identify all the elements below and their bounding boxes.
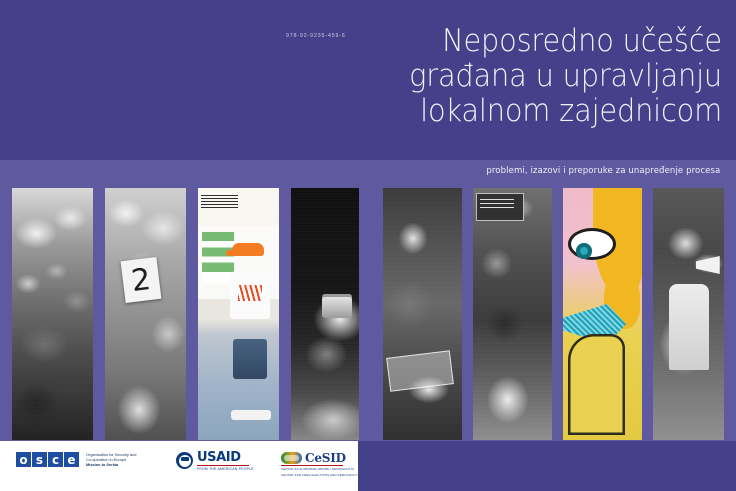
cesid-descriptor-line-1: CENTAR ZA SLOBODNE IZBORE I DEMOKRATIJU: [281, 467, 358, 471]
osce-letter-e: e: [64, 452, 79, 467]
photo-hand-raising-number-two-card: [105, 188, 186, 440]
cesid-name: CeSID: [305, 452, 346, 464]
mural-hand: [568, 334, 625, 435]
usaid-wordmark: USAID FROM THE AMERICAN PEOPLE: [197, 451, 254, 472]
osce-letter-c: c: [48, 452, 63, 467]
page-title: Neposredno učešće građana u upravljanju …: [342, 24, 722, 129]
sneakers: [231, 410, 271, 420]
osce-logo: o s c e Organisation for Security and Co…: [16, 452, 136, 467]
usaid-logo: USAID FROM THE AMERICAN PEOPLE: [176, 451, 254, 472]
title-line-1: Neposredno učešće: [369, 24, 722, 59]
osce-letter-s-glyph: s: [36, 454, 43, 466]
osce-descriptor-line-3: Mission to Serbia: [86, 462, 136, 467]
subtitle-text: problemi, izazovi i preporuke za unapređ…: [486, 166, 720, 176]
photo-crowd-raising-voting-cards: [12, 188, 93, 440]
osce-letter-c-glyph: c: [52, 454, 59, 466]
osce-descriptor: Organisation for Security and Co-operati…: [86, 452, 136, 467]
white-shirt: [230, 271, 270, 319]
right-photo-strip: [383, 188, 724, 440]
photo-woman-in-protest-crowd: [473, 188, 552, 440]
photo-hand-holding-rubber-stamp: [291, 188, 359, 440]
usaid-seal-icon: [176, 452, 193, 469]
photo-girl-in-orange-cap-at-info-stand: [198, 188, 279, 440]
title-line-2: građana u upravljanju: [369, 59, 722, 94]
cesid-emblem-icon: [281, 452, 302, 464]
osce-letter-e-glyph: e: [67, 454, 75, 466]
jeans: [233, 339, 267, 379]
footer-right-purple: [358, 441, 736, 491]
light-coat: [669, 284, 709, 370]
book-cover: 978-92-9235-459-6 Neposredno učešće građ…: [0, 0, 736, 491]
photo-pop-art-mural-face-with-glasses: [563, 188, 642, 440]
mural-glasses: [568, 228, 616, 260]
osce-letter-s: s: [32, 452, 47, 467]
megaphone: [696, 256, 720, 274]
osce-letter-marks: o s c e: [16, 452, 80, 467]
orange-cap: [232, 243, 264, 256]
left-photo-strip: [12, 188, 359, 440]
osce-letter-o-glyph: o: [19, 454, 27, 466]
mural-eye: [576, 243, 592, 259]
protest-placard: [476, 193, 524, 221]
cesid-wordmark: CeSID: [281, 452, 358, 464]
title-line-3: lokalnom zajednicom: [369, 94, 722, 129]
rubber-stamp: [322, 294, 352, 318]
ballot-box: [386, 351, 454, 393]
usaid-name: USAID: [197, 451, 254, 464]
osce-letter-o: o: [16, 452, 31, 467]
photo-man-casting-ballot-in-box: [383, 188, 462, 440]
cesid-logo: CeSID CENTAR ZA SLOBODNE IZBORE I DEMOKR…: [281, 452, 358, 477]
photo-woman-with-megaphone: [653, 188, 724, 440]
cesid-descriptor-line-2: CENTER FOR FREE ELECTIONS AND DEMOCRACY: [281, 473, 358, 477]
number-two-card: [120, 257, 161, 303]
usaid-tagline: FROM THE AMERICAN PEOPLE: [197, 467, 254, 472]
